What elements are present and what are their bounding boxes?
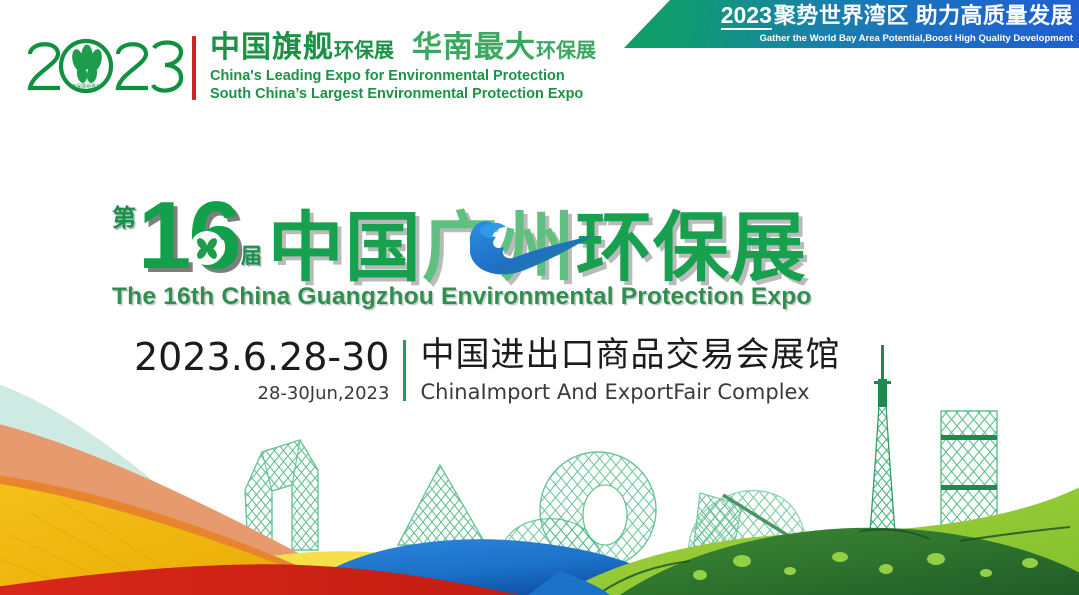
- title-edition-number: 16: [138, 196, 239, 277]
- title-cn-7: 展: [730, 213, 807, 283]
- slogan-cn-2-big: 华南最大: [412, 33, 536, 63]
- scenery-illustration: [0, 335, 1079, 595]
- svg-text:环保展组委会: 环保展组委会: [71, 83, 101, 90]
- header-slogan-cn: 中国旗舰 环保展 华南最大 环保展: [210, 33, 596, 63]
- title-cn-6: 保: [653, 213, 730, 283]
- edition-number-text: 16: [138, 182, 239, 289]
- slogan-cn-1-small: 环保展: [334, 41, 394, 61]
- leaf-circle-emblem: [70, 45, 103, 84]
- top-banner-headline: 2023 聚势世界湾区 助力高质量发展: [721, 4, 1073, 30]
- main-title-row: 第 16 届 中: [112, 178, 812, 283]
- top-banner: 2023 聚势世界湾区 助力高质量发展 Gather the World Bay…: [624, 0, 1079, 48]
- header-slogan-en-1: China's Leading Expo for Environmental P…: [210, 68, 596, 86]
- header-slogans: 中国旗舰 环保展 华南最大 环保展 China's Leading Expo f…: [210, 33, 596, 103]
- logo-2023-svg: 环保展组委会: [24, 32, 184, 104]
- slogan-cn-1-big: 中国旗舰: [210, 33, 334, 63]
- top-banner-headline-cn: 聚势世界湾区 助力高质量发展: [774, 5, 1073, 27]
- title-cn-2: 国: [345, 213, 422, 283]
- title-cn-3: 广: [422, 213, 499, 283]
- title-cn-1: 中: [268, 213, 345, 283]
- slogan-cn-2-small: 环保展: [536, 41, 596, 61]
- title-suffix: 届: [241, 246, 262, 267]
- top-banner-year: 2023: [721, 4, 772, 30]
- header-divider: [192, 36, 196, 100]
- title-chinese: 中 国 广 州 环 保 展: [268, 213, 807, 283]
- pyramid-building-wireframe: [398, 465, 486, 545]
- title-prefix: 第: [112, 207, 136, 231]
- header-slogan-en-2: South China’s Largest Environmental Prot…: [210, 86, 596, 104]
- scenery-svg: [0, 335, 1079, 595]
- leaf-emblem-svg: [193, 234, 221, 262]
- top-banner-headline-en: Gather the World Bay Area Potential,Boos…: [759, 34, 1073, 44]
- header: 环保展组委会 中国旗舰 环保展 华南最大 环保展 China's Leading…: [24, 32, 596, 104]
- top-banner-content: 2023 聚势世界湾区 助力高质量发展 Gather the World Bay…: [676, 0, 1073, 48]
- title-cn-4: 州: [499, 213, 576, 283]
- poster-root: 2023 聚势世界湾区 助力高质量发展 Gather the World Bay…: [0, 0, 1079, 595]
- leaf-emblem-icon: [190, 231, 224, 265]
- title-cn-5: 环: [576, 213, 653, 283]
- logo-2023: 环保展组委会: [24, 32, 184, 104]
- main-title: 第 16 届 中: [112, 178, 812, 318]
